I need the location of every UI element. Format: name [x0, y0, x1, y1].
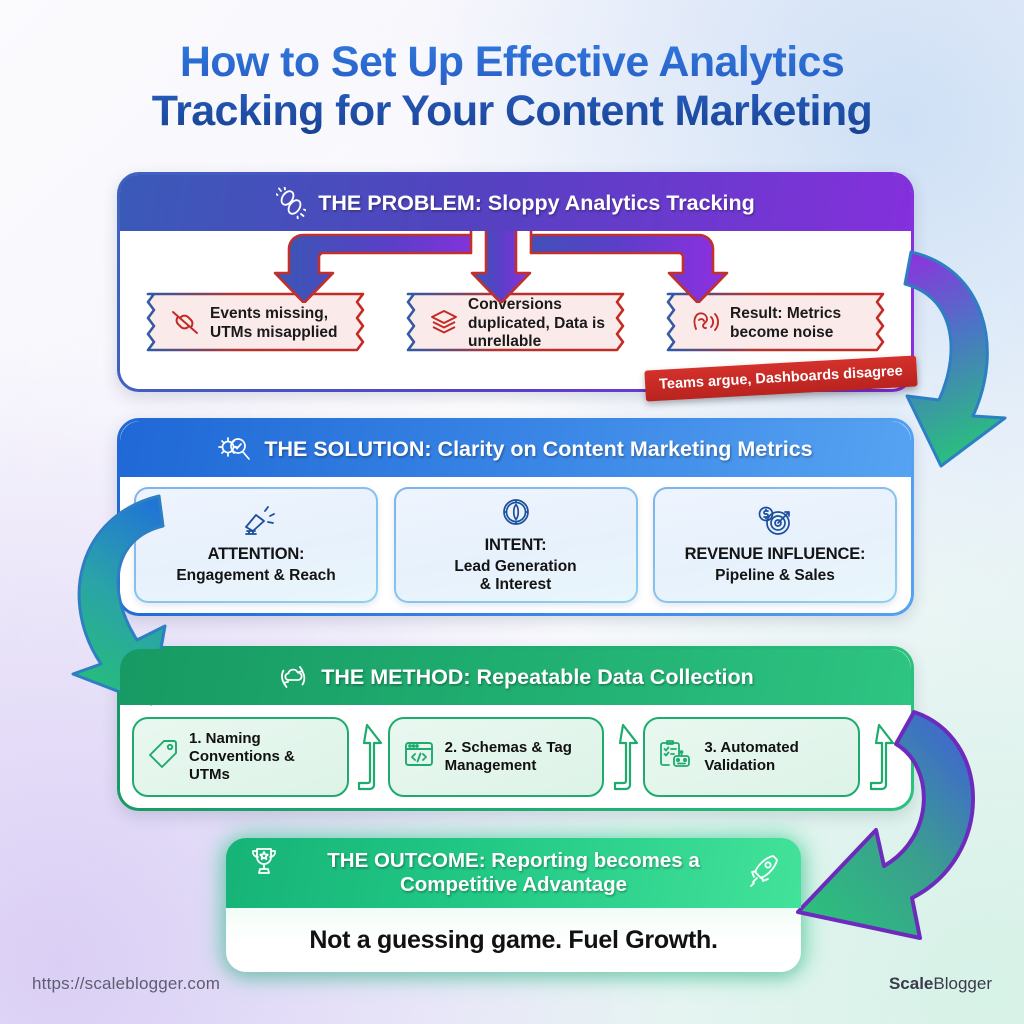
solution-card-sub: Pipeline & Sales: [715, 567, 835, 585]
compass-icon: [499, 496, 533, 533]
solution-card-revenue: REVENUE INFLUENCE: Pipeline & Sales: [653, 487, 897, 603]
section-outcome: THE OUTCOME: Reporting becomes a Competi…: [226, 838, 801, 972]
solution-card-sub: Lead Generation & Interest: [454, 558, 576, 595]
ear-noise-icon: [688, 307, 722, 342]
method-card-text: 2. Schemas & Tag Management: [445, 739, 572, 775]
problem-card-text: Conversions duplicated, Data is unrellab…: [468, 296, 623, 353]
solution-card-title: INTENT:: [485, 536, 547, 555]
target-dollar-icon: [755, 505, 795, 542]
problem-header-label: THE PROBLEM: Sloppy Analytics Tracking: [318, 191, 754, 216]
method-up-arrow: [349, 721, 388, 793]
rocket-icon: [747, 852, 781, 894]
code-window-icon: [402, 738, 436, 775]
solution-card-title: ATTENTION:: [208, 545, 305, 564]
problem-card-text: Result: Metrics become noise: [730, 305, 883, 343]
method-header-label: THE METHOD: Repeatable Data Collection: [321, 665, 753, 690]
outcome-header-line2: Competitive Advantage: [400, 873, 627, 897]
section-method: THE METHOD: Repeatable Data Collection 1…: [117, 646, 914, 811]
price-tag-icon: [146, 737, 180, 776]
brand-rest: Blogger: [933, 974, 992, 993]
broken-link-slash-icon: [168, 307, 202, 342]
solution-body: ATTENTION: Engagement & Reach INTENT: Le…: [120, 477, 911, 613]
solution-card-sub: Engagement & Reach: [176, 567, 335, 585]
outcome-header-line1: THE OUTCOME: Reporting becomes a: [327, 849, 699, 873]
solution-header-label: THE SOLUTION: Clarity on Content Marketi…: [264, 437, 812, 462]
page-title: How to Set Up Effective Analytics Tracki…: [0, 38, 1024, 136]
method-up-arrow: [604, 721, 643, 793]
clipboard-robot-icon: [657, 737, 695, 776]
outcome-body: Not a guessing game. Fuel Growth.: [226, 908, 801, 972]
footer-brand-logo: ScaleBlogger: [889, 974, 992, 994]
problem-header: THE PROBLEM: Sloppy Analytics Tracking: [120, 175, 911, 231]
outcome-header: THE OUTCOME: Reporting becomes a Competi…: [226, 838, 801, 908]
method-card-1: 1. Naming Conventions & UTMs: [132, 717, 349, 797]
method-body: 1. Naming Conventions & UTMs 2. Schemas …: [120, 705, 911, 808]
solution-card-attention: ATTENTION: Engagement & Reach: [134, 487, 378, 603]
problem-card-text: Events missing, UTMs misapplied: [210, 305, 363, 343]
problem-branch-arrows: [120, 231, 911, 303]
method-card-text: 1. Naming Conventions & UTMs: [189, 730, 295, 784]
method-card-2: 2. Schemas & Tag Management: [388, 717, 605, 797]
broken-chain-link-icon: [276, 187, 306, 219]
section-solution: THE SOLUTION: Clarity on Content Marketi…: [117, 418, 914, 616]
solution-card-intent: INTENT: Lead Generation & Interest: [394, 487, 638, 603]
trophy-icon: [248, 844, 280, 884]
section-problem: THE PROBLEM: Sloppy Analytics Tracking: [117, 172, 914, 392]
stacked-layers-icon: [428, 307, 460, 342]
method-card-text: 3. Automated Validation: [704, 739, 798, 775]
method-card-3: 3. Automated Validation: [643, 717, 860, 797]
method-up-arrow: [860, 721, 899, 793]
solution-card-title: REVENUE INFLUENCE:: [685, 545, 866, 564]
spotlight-icon: [237, 505, 275, 542]
brand-bold: Scale: [889, 974, 933, 993]
cloud-sync-icon: [277, 661, 309, 693]
gears-magnifier-icon: [218, 433, 252, 465]
solution-header: THE SOLUTION: Clarity on Content Marketi…: [120, 421, 911, 477]
footer-url[interactable]: https://scaleblogger.com: [32, 974, 220, 994]
method-header: THE METHOD: Repeatable Data Collection: [120, 649, 911, 705]
